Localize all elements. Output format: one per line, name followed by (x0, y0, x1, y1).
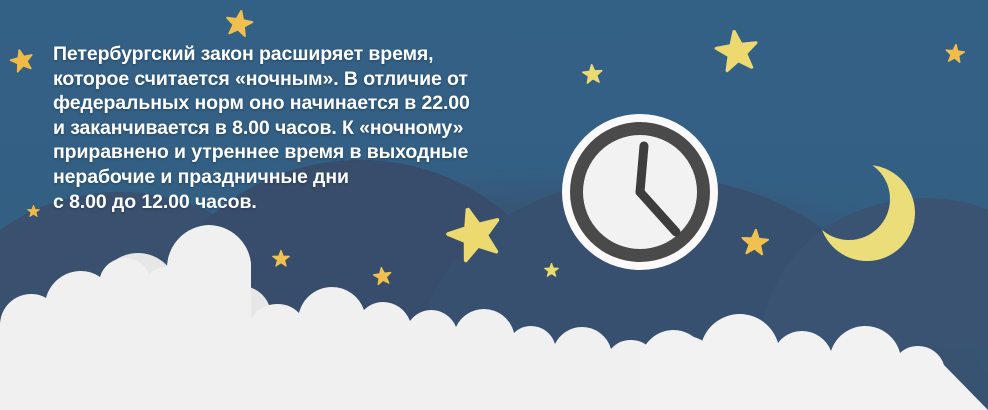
star-top-center-icon (223, 8, 255, 40)
night-sky-infographic: Петербургский закон расширяет время, кот… (0, 0, 988, 410)
body-paragraph: Петербургский закон расширяет время, кот… (53, 42, 523, 214)
cloud-bank (0, 210, 988, 410)
star-upper-right-icon (712, 27, 762, 77)
star-far-right-small-icon (944, 43, 966, 65)
star-mid-left-small-icon (581, 63, 604, 86)
